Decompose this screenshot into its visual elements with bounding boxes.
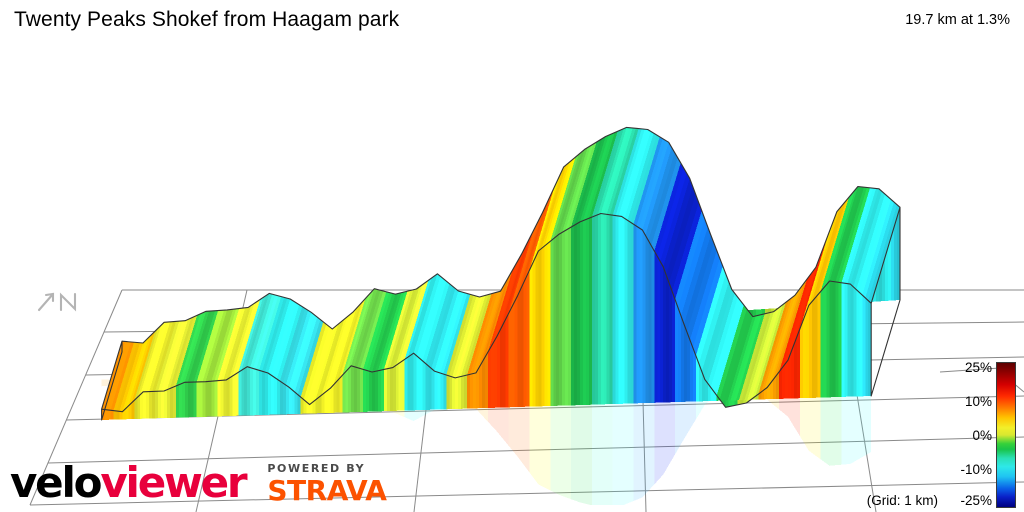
terrain-band-front [212,381,215,417]
reflection-band [102,380,105,387]
grid-note: (Grid: 1 km) [867,493,938,508]
terrain-band-front [241,369,244,416]
terrain-band-front [215,381,218,417]
terrain-band-front [562,231,565,406]
terrain-band-front [830,281,833,397]
terrain-band-front [256,369,259,415]
terrain-band-front [797,329,800,398]
terrain-band-front [515,296,518,407]
terrain-band-front [327,388,330,413]
logo-viewer: viewer [100,458,245,507]
terrain-band-front [684,324,687,402]
terrain-band-front [506,313,509,407]
terrain-band-front [622,216,625,403]
terrain-band-front [675,300,678,403]
terrain-band-front [420,358,423,410]
reflection-band [651,390,654,487]
terrain-band-front [336,379,339,413]
terrain-band-front [631,222,634,403]
terrain-band-front [455,377,458,409]
strava-logo: STRAVA [267,477,386,505]
terrain-band-front [191,382,194,417]
terrain-band-front [229,376,232,416]
terrain-band-front [259,370,262,415]
terrain-band-front [533,257,536,406]
logo-velo: velo [10,458,100,507]
reflection-band [833,394,836,466]
terrain-band-front [182,382,185,417]
terrain-band-front [179,384,182,418]
terrain-band-front [164,390,167,418]
terrain-band-front [521,283,524,407]
terrain-band-front [414,353,417,410]
terrain-band-front [197,382,200,417]
reflection-band [818,393,821,459]
terrain-band-front [235,372,238,415]
terrain-band-front [666,275,669,403]
terrain-band-front [485,352,488,408]
terrain-band-front [853,287,856,397]
route-stats: 19.7 km at 1.3% [905,12,1010,28]
footer-branding: veloviewer POWERED BY STRAVA [10,458,386,508]
terrain-band-front [274,377,277,415]
legend-label-4: -25% [960,493,992,508]
terrain-band-front [209,381,212,417]
reflection-band [842,394,845,465]
terrain-band-front [467,374,470,408]
reflection-band [574,389,577,502]
terrain-band-front [247,367,250,416]
reflection-band [598,389,601,507]
terrain-band-front [345,369,348,412]
terrain-band-front [200,382,203,417]
terrain-band-front [140,392,143,419]
terrain-band-front [354,367,357,412]
terrain-band-front [642,230,645,403]
terrain-band-front [250,368,253,416]
terrain-band-front [651,246,654,403]
legend-label-3: -10% [960,462,992,477]
terrain-band-front [509,307,512,407]
reflection-band [815,393,818,457]
terrain-band-front [446,375,449,409]
terrain-band-front [678,308,681,402]
terrain-band-front [393,366,396,411]
terrain-band-front [137,395,140,419]
reflection-band [824,394,827,464]
terrain-band-front [223,380,226,416]
terrain-band-front [431,369,434,410]
terrain-band-front [405,357,408,410]
terrain-band-front [794,337,797,399]
reflection-band [850,394,853,464]
terrain-band-front [155,391,158,418]
terrain-band-front [387,368,390,411]
reflection-band [625,390,628,505]
terrain-band-front [408,355,411,410]
terrain-band-front [134,398,137,420]
terrain-band-front [654,251,657,403]
terrain-band-front [845,283,848,397]
reflection-band [639,390,642,499]
reflection-band [839,394,842,465]
terrain-band-front [856,290,859,397]
terrain-band-front [322,393,325,413]
terrain-band-front [779,368,782,399]
legend-label-1: 10% [965,394,992,409]
terrain-band-front [672,291,675,402]
terrain-band-front [556,234,559,406]
reflection-band [595,389,598,507]
reflection-band [794,393,797,431]
reflection-band [604,389,607,507]
reflection-band [853,394,856,462]
terrain-band-front [119,411,122,419]
terrain-band-front [610,215,613,404]
terrain-band-front [833,281,836,397]
reflection-band [580,389,583,503]
terrain-band-front [411,353,414,410]
terrain-band-front [839,282,842,397]
terrain-band-front [476,368,479,409]
terrain-band-front [292,390,295,415]
terrain-band-front [619,216,622,404]
terrain-band-front [625,218,628,403]
terrain-band-front [348,366,351,413]
legend-label-2: 0% [972,428,992,443]
terrain-band-front [657,256,660,403]
terrain-band-front [785,360,788,399]
terrain-band-front [687,332,690,402]
terrain-band-front [461,376,464,409]
terrain-band-front [535,251,538,407]
terrain-band-front [325,391,328,414]
terrain-band-front [399,361,402,410]
terrain-band-front [601,214,604,405]
terrain-band-front [494,337,497,408]
terrain-band-front [185,382,188,417]
terrain-band-front [111,410,114,419]
reflection-band [660,390,663,477]
terrain-band-front [639,228,642,403]
terrain-band-front [464,375,467,409]
reflection-band [800,393,803,441]
terrain-band-front [108,410,111,420]
reflection-band [645,390,648,494]
terrain-band-front [669,283,672,402]
terrain-band-front [170,387,173,418]
terrain-band-front [452,377,455,409]
reflection-band [821,393,824,461]
legend-label-0: 25% [965,360,992,375]
terrain-band-front [253,369,256,416]
terrain-band-front [818,291,821,397]
reflection-band [812,393,815,455]
terrain-band-front [530,264,533,407]
terrain-band-front [812,298,815,398]
terrain-band-front [149,392,152,419]
terrain-band-front [158,391,161,418]
reflection-band [571,389,574,501]
terrain-band-front [815,295,818,398]
terrain-band-front [417,356,420,411]
reflection-band [836,394,839,465]
reflection-band [616,390,619,507]
reflection-band [634,390,637,501]
terrain-band-front [527,270,530,407]
terrain-band-front [173,386,176,418]
terrain-band-front [497,331,500,408]
terrain-band-front [203,382,206,417]
terrain-band-front [226,378,229,416]
terrain-band-front [357,368,360,412]
terrain-band-front [114,411,117,420]
terrain-band-front [538,249,541,407]
terrain-band-front [598,214,601,405]
terrain-band-front [634,224,637,403]
terrain-band-front [595,215,598,405]
terrain-band-front [859,292,862,396]
terrain-band-front [518,289,521,407]
reflection-band [862,394,865,457]
terrain-band-front [803,313,806,398]
terrain-band-front [378,370,381,411]
terrain-band-front [375,371,378,412]
terrain-band-front [363,369,366,412]
terrain-band-front [473,373,476,409]
terrain-band-front [221,380,224,416]
terrain-band-front [574,224,577,406]
reflection-band [601,389,604,507]
reflection-band [631,390,634,502]
reflection-band [845,394,848,464]
terrain-band-front [577,222,580,405]
terrain-band-front [277,379,280,414]
terrain-band-front [423,361,426,410]
reflection-band [637,390,640,500]
terrain-band-front [637,226,640,403]
terrain-band-front [592,216,595,405]
terrain-band-front [541,246,544,406]
elevation-3d-scene[interactable] [0,0,1024,512]
terrain-band-front [283,383,286,414]
terrain-band-front [648,241,651,403]
strava-branding: POWERED BY STRAVA [267,462,386,505]
reflection-band [827,394,830,466]
terrain-band-front [827,281,830,397]
terrain-band-front [440,373,443,409]
terrain-band-front [809,302,812,398]
terrain-band-front [847,284,850,397]
terrain-band-front [232,374,235,416]
veloviewer-3d-profile: Twenty Peaks Shokef from Haagam park 19.… [0,0,1024,512]
terrain-band-front [330,385,333,413]
reflection-band [613,389,616,506]
reflection-band [607,389,610,507]
reflection-band [628,390,631,504]
terrain-band-front [366,370,369,412]
terrain-band-front [333,382,336,413]
terrain-band-front [238,371,241,416]
terrain-band-front [824,285,827,398]
reflection-band [657,390,660,481]
terrain-band-front [782,364,785,399]
terrain-band-front [342,372,345,412]
terrain-band-front [286,385,289,414]
terrain-band-front [690,340,693,402]
terrain-band-front [105,410,108,420]
terrain-band-front [146,392,149,419]
reflection-band [619,390,622,506]
terrain-band-front [491,342,494,408]
terrain-band-front [295,392,298,414]
terrain-band-front [443,374,446,409]
terrain-band-front [565,229,568,406]
reflection-band [806,393,809,450]
terrain-band-front [681,316,684,402]
terrain-band-front [488,347,491,408]
terrain-band-front [458,376,461,409]
terrain-band-front [836,282,839,397]
reflection-band [583,389,586,504]
reflection-band [859,394,862,459]
terrain-band-front [544,244,547,407]
terrain-band-front [244,367,247,416]
terrain-band-front [437,372,440,410]
terrain-band-front [206,381,209,416]
terrain-band-front [586,218,589,405]
reflection-band [803,393,806,446]
terrain-band-front [660,262,663,403]
terrain-band-front [384,369,387,411]
terrain-band-front [663,267,666,403]
terrain-band-front [167,389,170,419]
terrain-band-front [645,235,648,403]
terrain-band-front [426,363,429,410]
terrain-band-front [434,371,437,410]
terrain-band-front [524,277,527,407]
reflection-band [610,389,613,506]
gradient-legend: 25% 10% 0% -10% -25% [922,362,1018,508]
reflection-band [847,394,850,464]
reflection-band [592,389,595,506]
terrain-band-front [500,325,503,408]
reflection-band [663,390,666,474]
reflection-band [589,389,592,505]
terrain-band-front [806,305,809,398]
terrain-band-front [583,220,586,406]
terrain-band-front [616,216,619,404]
terrain-band-front [188,382,191,417]
gradient-colorbar [996,362,1016,508]
terrain-band-front [482,357,485,408]
terrain-band-front [613,215,616,404]
terrain-band-front [571,225,574,405]
terrain-band-front [372,371,375,411]
terrain-band-front [194,382,197,417]
terrain-band-front [271,375,274,415]
terrain-band-front [390,368,393,411]
reflection-band [586,389,589,505]
terrain-band-front [547,241,550,406]
terrain-band-front [402,359,405,410]
reflection-band [622,390,625,506]
terrain-band-front [607,214,610,404]
terrain-band-front [503,319,506,407]
terrain-band-front [470,374,473,409]
reflection-band [830,394,833,466]
reflection-band [654,390,657,484]
terrain-band-front [369,371,372,412]
terrain-band-front [176,385,179,418]
terrain-band-front [553,237,556,406]
terrain-band-front [117,411,120,420]
reflection-band [105,380,108,386]
terrain-band-front [161,391,164,418]
terrain-band-front [479,363,482,409]
page-title: Twenty Peaks Shokef from Haagam park [14,8,399,32]
terrain-band-front [429,366,432,410]
terrain-band-front [298,395,301,414]
terrain-band-front [280,381,283,414]
terrain-band-front [351,366,354,412]
terrain-band-front [381,370,384,412]
terrain-band-front [218,380,221,416]
terrain-band-front [842,283,845,397]
terrain-band-front [568,227,571,405]
reflection-band [868,394,871,453]
terrain-band-front [580,221,583,405]
terrain-band-front [339,375,342,412]
terrain-band-front [821,288,824,398]
terrain-band-front [550,239,553,406]
reflection-band [642,390,645,497]
reflection-band [648,390,651,491]
reflection-band [797,393,800,436]
terrain-band-front [628,220,631,403]
terrain-band-front [865,298,868,396]
terrain-band-front [850,284,853,397]
terrain-band-front [589,217,592,405]
terrain-band-front [449,376,452,409]
powered-by-label: POWERED BY [267,462,386,475]
terrain-band-front [360,369,363,412]
reflection-band [577,389,580,503]
veloviewer-logo[interactable]: veloviewer [10,462,245,504]
reflection-band [809,393,812,453]
reflection-band [865,394,868,455]
terrain-band-front [862,295,865,396]
terrain-band-front [800,321,803,398]
terrain-band-front [265,372,268,415]
terrain-band-front [152,391,155,418]
terrain-band-front [396,364,399,411]
reflection-band [856,394,859,460]
terrain-band-front [268,373,271,415]
terrain-band-front [512,302,515,408]
terrain-band-front [262,371,265,415]
terrain-band-front [143,392,146,419]
terrain-band-front [559,232,562,405]
terrain-band-front [289,387,292,414]
terrain-band-front [604,214,607,404]
